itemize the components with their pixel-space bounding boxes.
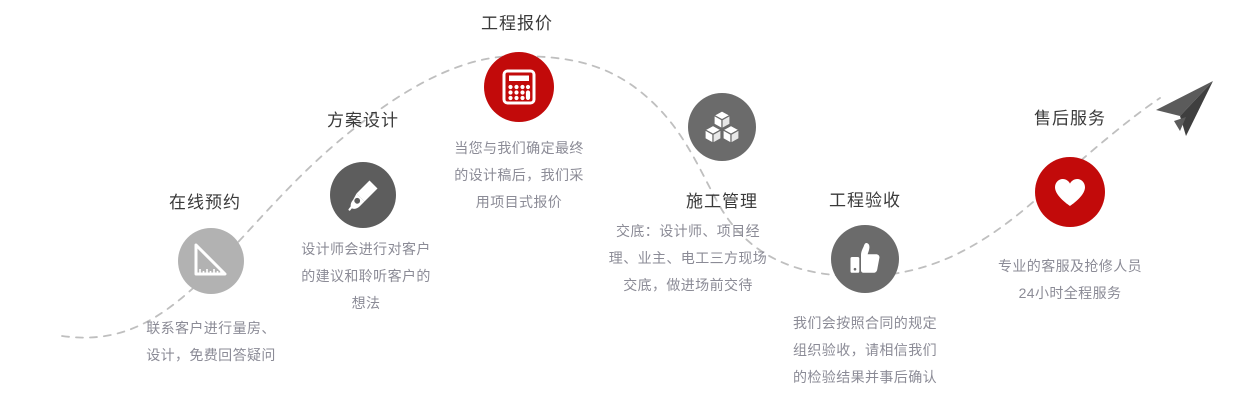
- process-flow-infographic: 在线预约 联系客户进行量房、设计，免费回答疑问 方案设计: [0, 0, 1245, 402]
- calculator-icon[interactable]: [484, 52, 554, 122]
- step-2-description: 设计师会进行对客户的建议和聆听客户的想法: [296, 236, 436, 317]
- step-5-description: 我们会按照合同的规定组织验收，请相信我们的检验结果并事后确认: [786, 310, 944, 391]
- pen-nib-icon[interactable]: [330, 162, 396, 228]
- step-2-title: 方案设计: [278, 110, 448, 132]
- heart-icon[interactable]: [1035, 157, 1105, 227]
- step-1-title: 在线预约: [120, 192, 290, 214]
- step-1-description: 联系客户进行量房、设计，免费回答疑问: [141, 315, 281, 369]
- step-3-title: 工程报价: [432, 13, 602, 35]
- thumbs-up-icon[interactable]: [831, 225, 899, 293]
- cubes-icon[interactable]: [688, 93, 756, 161]
- paper-plane-icon: [1150, 78, 1220, 145]
- step-4-description: 交底：设计师、项目经理、业主、电工三方现场交底，做进场前交待: [606, 218, 770, 299]
- step-5-title: 工程验收: [780, 190, 950, 212]
- step-6-title: 售后服务: [985, 108, 1155, 130]
- step-3-description: 当您与我们确定最终的设计稿后，我们采用项目式报价: [449, 135, 589, 216]
- step-6-description: 专业的客服及抢修人员24小时全程服务: [995, 253, 1145, 307]
- triangle-ruler-icon[interactable]: [178, 228, 244, 294]
